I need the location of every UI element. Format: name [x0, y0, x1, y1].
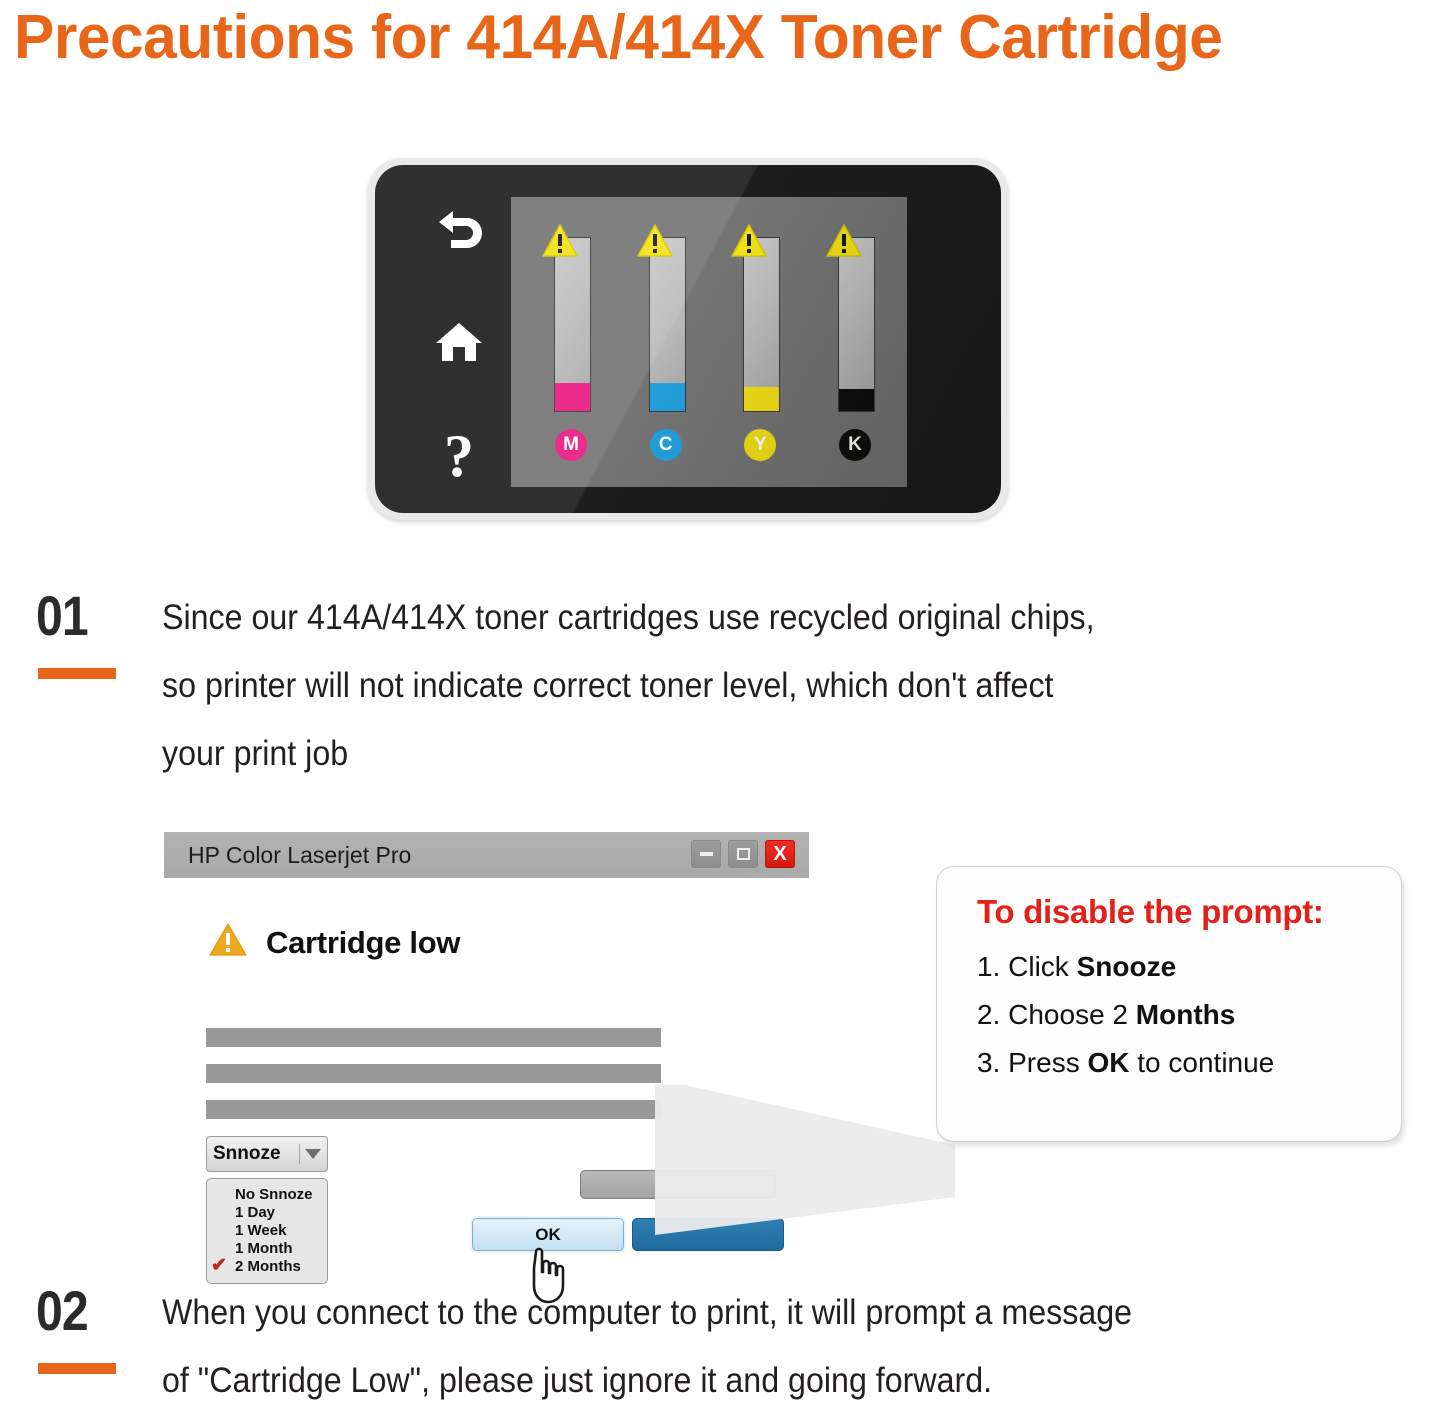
toner-fill-cyan — [650, 383, 685, 411]
toner-fill-magenta — [555, 383, 590, 411]
toner-gauge-yellow — [730, 223, 790, 423]
callout-step-3: 3. Press OK to continue — [977, 1039, 1401, 1087]
warning-triangle-icon — [825, 223, 863, 259]
placeholder-line — [206, 1064, 661, 1083]
dialog-alert-title: Cartridge low — [266, 925, 460, 961]
toner-gauge-row — [541, 223, 885, 423]
toner-tube — [838, 237, 875, 412]
dialog-titlebar[interactable]: HP Color Laserjet Pro X — [164, 832, 809, 878]
snooze-option-list: No Snnoze 1 Day 1 Week 1 Month — [206, 1178, 328, 1284]
checkmark-icon: ✔ — [211, 1257, 235, 1275]
placeholder-line — [206, 1100, 661, 1119]
window-button-group: X — [691, 840, 795, 868]
step-02: 02 When you connect to the computer to p… — [36, 1283, 1416, 1401]
step-01: 01 Since our 414A/414X toner cartridges … — [36, 588, 1416, 788]
panel-body: ? — [375, 165, 1001, 513]
close-icon: X — [773, 844, 786, 864]
callout-steps-list: 1. Click Snooze 2. Choose 2 Months 3. Pr… — [977, 943, 1401, 1087]
snooze-option-no-snnoze[interactable]: No Snnoze — [207, 1185, 327, 1203]
toner-badge-magenta: M — [555, 429, 587, 461]
toner-fill-yellow — [744, 387, 779, 411]
warning-triangle-icon — [730, 223, 768, 259]
warning-triangle-icon — [541, 223, 579, 259]
callout-step-1-strong: Snooze — [1077, 951, 1177, 982]
option-label: 1 Month — [235, 1240, 293, 1257]
dropdown-separator — [299, 1144, 300, 1164]
placeholder-line — [206, 1028, 661, 1047]
callout-title: To disable the prompt: — [977, 893, 1401, 931]
callout-step-2-strong: Months — [1136, 999, 1236, 1030]
close-button[interactable]: X — [765, 840, 795, 868]
callout-step-1: 1. Click Snooze — [977, 943, 1401, 991]
callout-step-2-prefix: 2. Choose 2 — [977, 999, 1136, 1030]
toner-color-badge-row: M C Y K — [541, 425, 885, 465]
toner-tube — [554, 237, 591, 412]
disable-prompt-callout: To disable the prompt: 1. Click Snooze 2… — [936, 866, 1402, 1142]
step-02-text: When you connect to the computer to prin… — [162, 1279, 1445, 1401]
printer-control-panel: ? — [368, 158, 1008, 520]
help-glyph: ? — [444, 429, 474, 483]
snooze-option-1-day[interactable]: 1 Day — [207, 1203, 327, 1221]
toner-gauge-black — [825, 223, 885, 423]
help-icon[interactable]: ? — [432, 429, 486, 483]
snooze-option-2-months[interactable]: ✔ 2 Months — [207, 1257, 327, 1275]
page-root: Precautions for 414A/414X Toner Cartridg… — [0, 0, 1445, 1401]
option-label: 1 Day — [235, 1204, 275, 1221]
page-title: Precautions for 414A/414X Toner Cartridg… — [14, 2, 1399, 74]
option-label: No Snnoze — [235, 1186, 313, 1203]
step-02-rule — [38, 1363, 116, 1374]
snooze-option-1-week[interactable]: 1 Week — [207, 1221, 327, 1239]
toner-tube — [743, 237, 780, 412]
callout-step-2: 2. Choose 2 Months — [977, 991, 1401, 1039]
toner-fill-black — [839, 389, 874, 411]
warning-triangle-icon — [636, 223, 674, 259]
callout-step-1-prefix: 1. Click — [977, 951, 1077, 982]
callout-step-3-strong: OK — [1087, 1047, 1129, 1078]
snooze-dropdown-value: Snnoze — [213, 1143, 294, 1165]
back-icon[interactable] — [432, 201, 486, 255]
chevron-down-icon — [305, 1149, 321, 1159]
callout-step-3-suffix: to continue — [1129, 1047, 1274, 1078]
step-01-text: Since our 414A/414X toner cartridges use… — [162, 584, 1445, 788]
step-01-number: 01 — [36, 588, 88, 644]
toner-gauge-cyan — [636, 223, 696, 423]
callout-connector — [655, 1085, 955, 1245]
toner-badge-cyan: C — [650, 429, 682, 461]
option-label: 2 Months — [235, 1258, 301, 1275]
step-01-rule — [38, 668, 116, 679]
toner-badge-yellow: Y — [744, 429, 776, 461]
dialog-alert-header: Cartridge low — [208, 922, 460, 963]
toner-gauge-magenta — [541, 223, 601, 423]
panel-key-column: ? — [403, 201, 515, 483]
home-icon[interactable] — [432, 315, 486, 369]
dialog-placeholder-lines — [206, 1028, 661, 1136]
step-02-number: 02 — [36, 1283, 88, 1339]
option-label: 1 Week — [235, 1222, 286, 1239]
minimize-button[interactable] — [691, 840, 721, 868]
minimize-icon — [700, 852, 713, 856]
maximize-icon — [737, 848, 750, 860]
maximize-button[interactable] — [728, 840, 758, 868]
dialog-title-text: HP Color Laserjet Pro — [188, 842, 411, 869]
panel-screen: M C Y K — [511, 197, 907, 487]
toner-tube — [649, 237, 686, 412]
snooze-dropdown-button[interactable]: Snnoze — [206, 1136, 328, 1172]
alert-warning-icon — [208, 922, 248, 963]
snooze-dropdown: Snnoze No Snnoze 1 Day 1 Week — [206, 1136, 328, 1284]
callout-step-3-prefix: 3. Press — [977, 1047, 1087, 1078]
toner-badge-black: K — [839, 429, 871, 461]
